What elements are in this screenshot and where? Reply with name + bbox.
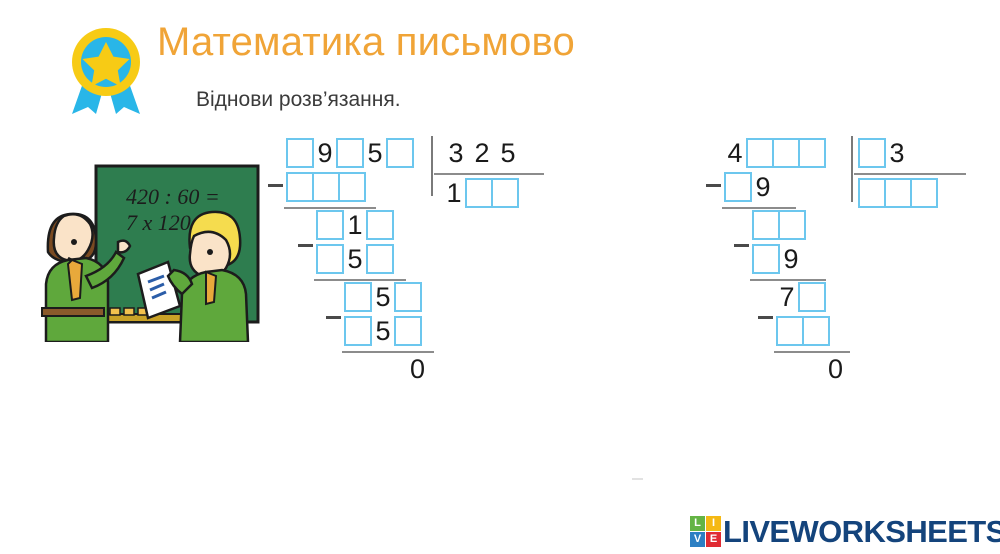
digit: 5 (497, 138, 519, 168)
subtraction-rule-2 (314, 279, 406, 281)
logo-square-e: E (706, 532, 721, 547)
digit: 5 (364, 138, 386, 168)
answer-box[interactable] (316, 210, 344, 240)
minus-sign (326, 316, 341, 319)
quotient-rule (434, 173, 544, 175)
logo-square-i: I (706, 516, 721, 531)
subtrahend-row-2: 5 (316, 244, 394, 274)
partial-row-1 (752, 210, 806, 240)
answer-box[interactable] (336, 138, 364, 168)
digit: 5 (372, 282, 394, 312)
minus-sign (734, 244, 749, 247)
subtraction-rule-3 (342, 351, 434, 353)
answer-box[interactable] (798, 282, 826, 312)
answer-box[interactable] (465, 178, 493, 208)
digit: 9 (780, 244, 802, 274)
digit: 1 (344, 210, 366, 240)
answer-box[interactable] (366, 244, 394, 274)
svg-text:420 : 60 =: 420 : 60 = (126, 184, 220, 209)
partial-row-2: 7 (776, 282, 826, 312)
answer-box[interactable] (858, 178, 886, 208)
answer-box[interactable] (316, 244, 344, 274)
answer-box[interactable] (746, 138, 774, 168)
answer-box[interactable] (394, 282, 422, 312)
division-bar-vertical (851, 136, 853, 202)
answer-box[interactable] (386, 138, 414, 168)
subtrahend-row-1: 9 (724, 172, 774, 202)
answer-box[interactable] (910, 178, 938, 208)
remainder-value: 0 (828, 356, 843, 383)
logo-square-v: V (690, 532, 705, 547)
answer-box[interactable] (884, 178, 912, 208)
digit: 3 (445, 138, 467, 168)
answer-box[interactable] (312, 172, 340, 202)
digit: 5 (344, 244, 366, 274)
partial-row-1: 1 (316, 210, 394, 240)
partial-row-2: 5 (344, 282, 422, 312)
answer-box[interactable] (286, 138, 314, 168)
minus-sign (268, 184, 283, 187)
division-bar-vertical (431, 136, 433, 196)
subtrahend-row-1 (286, 172, 366, 202)
stray-dash-mark (632, 478, 643, 480)
answer-box[interactable] (344, 282, 372, 312)
answer-box[interactable] (344, 316, 372, 346)
exercise-left-long-division: 9 5 3 2 5 1 1 (268, 132, 568, 394)
digit: 1 (443, 178, 465, 208)
subtrahend-row-3: 5 (344, 316, 422, 346)
digit: 9 (314, 138, 336, 168)
divisor-row: 3 2 5 (443, 138, 521, 168)
page-title: Математика письмово (157, 20, 575, 64)
subtrahend-row-3 (776, 316, 830, 346)
quotient-row (858, 178, 938, 208)
answer-box[interactable] (778, 210, 806, 240)
quotient-row: 1 (443, 178, 519, 208)
dividend-row: 9 5 (286, 138, 414, 168)
logo-wordmark: LIVEWORKSHEETS (723, 516, 1000, 547)
answer-box[interactable] (491, 178, 519, 208)
answer-box[interactable] (366, 210, 394, 240)
minus-sign (298, 244, 313, 247)
subtraction-rule-2 (750, 279, 826, 281)
answer-box[interactable] (776, 316, 804, 346)
remainder-value: 0 (410, 356, 425, 383)
minus-sign (706, 184, 721, 187)
answer-box[interactable] (798, 138, 826, 168)
subtraction-rule-3 (774, 351, 850, 353)
quotient-rule (854, 173, 966, 175)
answer-box[interactable] (858, 138, 886, 168)
answer-box[interactable] (802, 316, 830, 346)
digit: 5 (372, 316, 394, 346)
digit: 4 (724, 138, 746, 168)
dividend-row: 4 (724, 138, 826, 168)
answer-box[interactable] (724, 172, 752, 202)
digit: 2 (471, 138, 493, 168)
subtraction-rule-1 (284, 207, 376, 209)
instruction-text: Віднови розв’язання. (196, 88, 401, 112)
divisor-row: 3 (858, 138, 908, 168)
digit: 7 (776, 282, 798, 312)
answer-box[interactable] (338, 172, 366, 202)
exercise-right-long-division: 4 3 9 (706, 132, 966, 394)
answer-box[interactable] (772, 138, 800, 168)
subtrahend-row-2: 9 (752, 244, 802, 274)
logo-square-l: L (690, 516, 705, 531)
digit: 3 (886, 138, 908, 168)
subtraction-rule-1 (722, 207, 796, 209)
liveworksheets-logo[interactable]: L I V E LIVEWORKSHEETS (690, 514, 1000, 548)
answer-box[interactable] (286, 172, 314, 202)
answer-box[interactable] (394, 316, 422, 346)
answer-box[interactable] (752, 244, 780, 274)
award-medal-star-icon (62, 18, 150, 114)
worksheet-page: Математика письмово Віднови розв’язання.… (0, 0, 1000, 554)
answer-box[interactable] (752, 210, 780, 240)
classroom-illustration: 420 : 60 = 7 x 120 = (34, 158, 260, 342)
digit: 9 (752, 172, 774, 202)
minus-sign (758, 316, 773, 319)
live-logo-squares: L I V E (690, 516, 721, 547)
